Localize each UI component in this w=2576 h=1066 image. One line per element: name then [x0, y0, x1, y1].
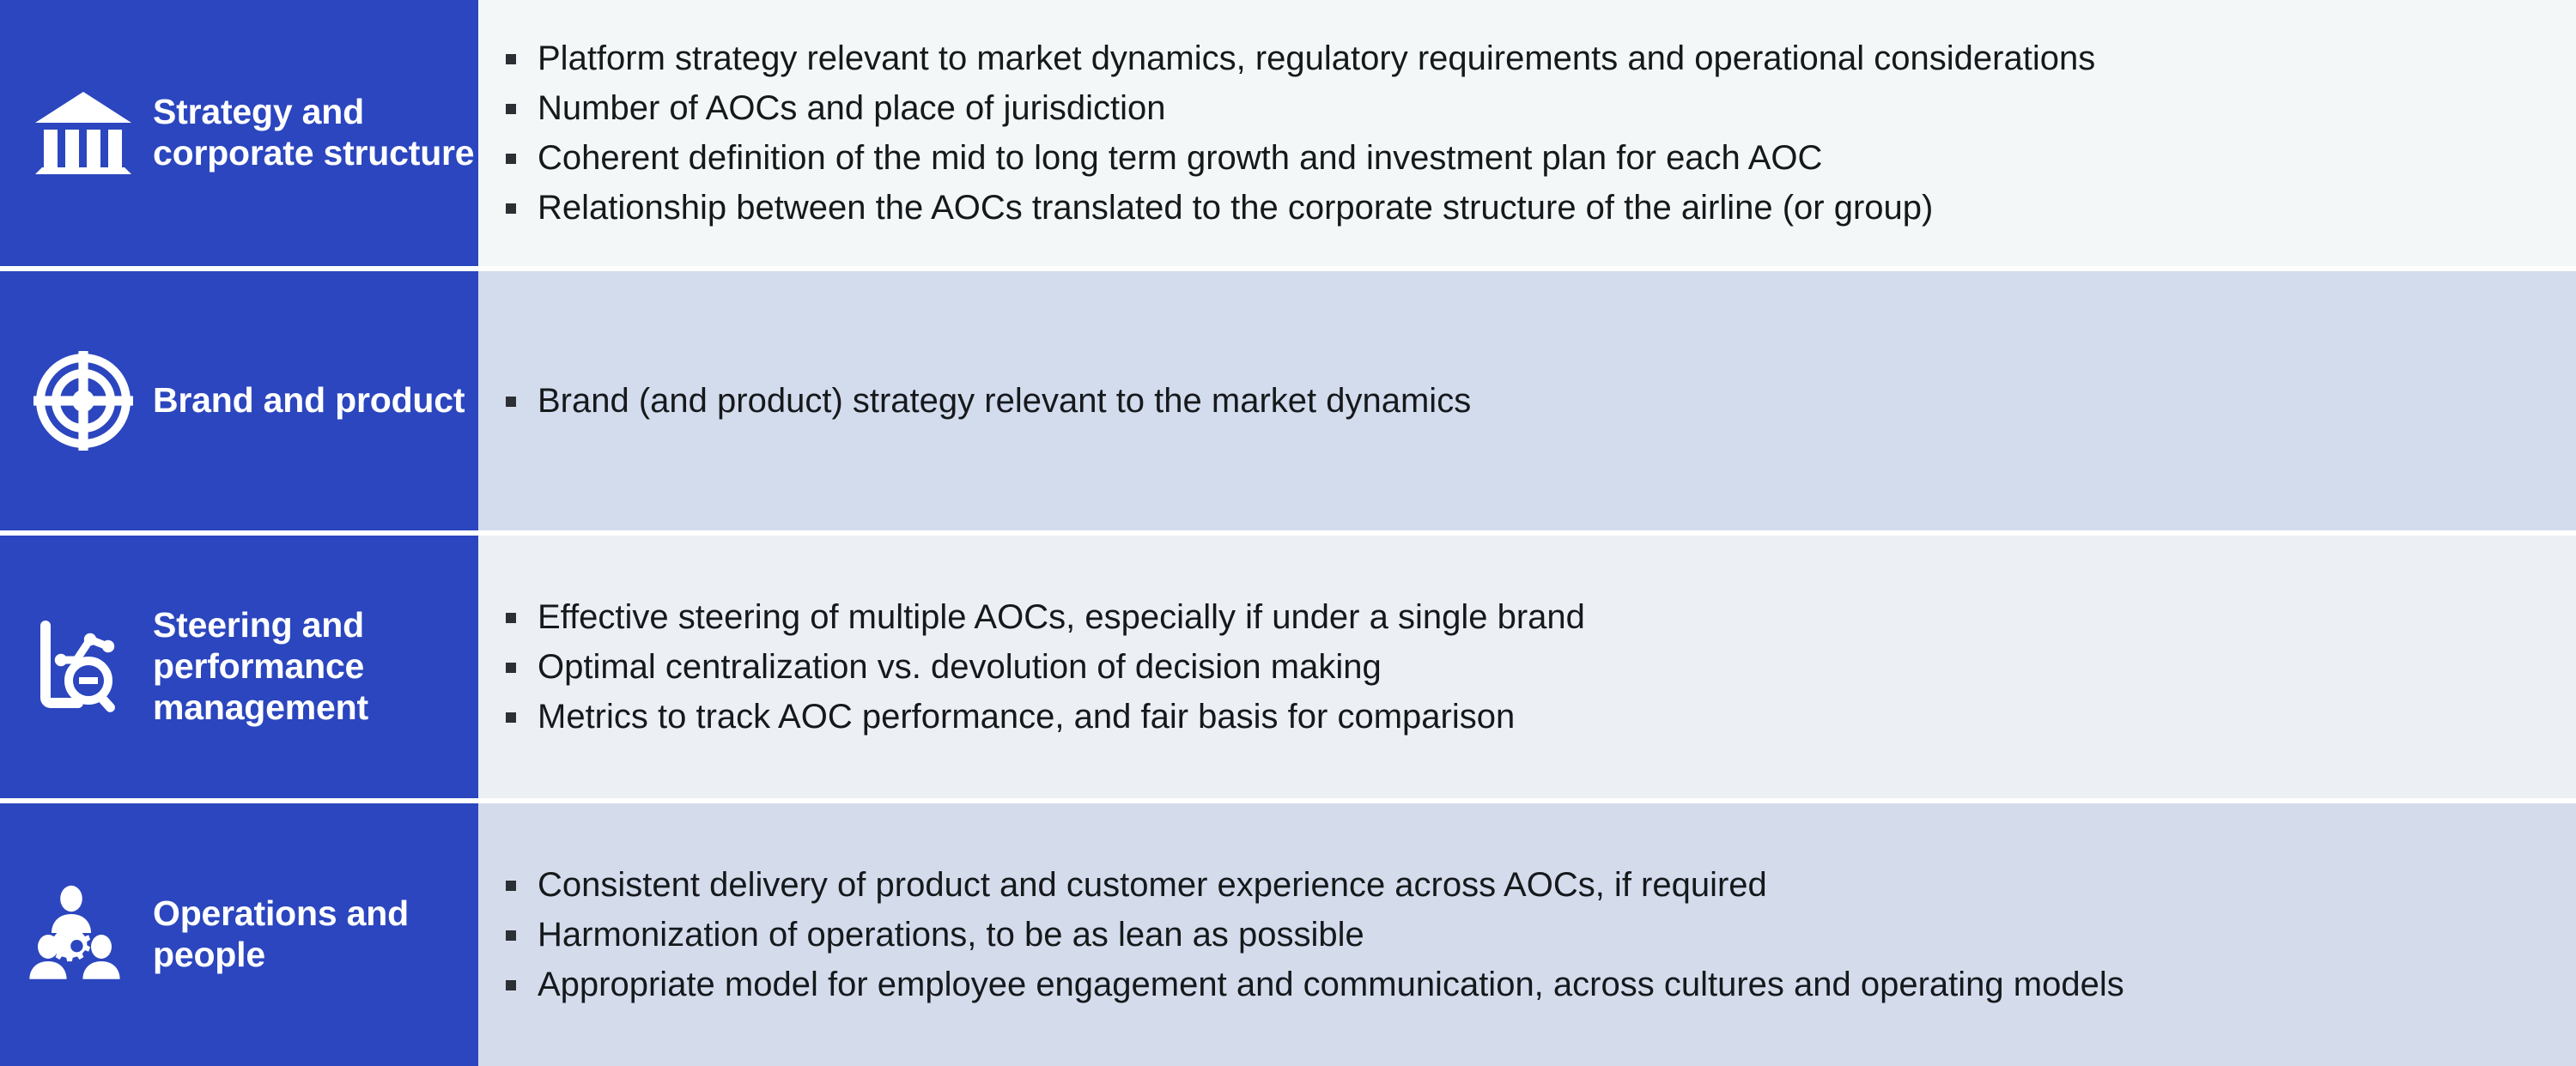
- list-item-text: Optimal centralization vs. devolution of…: [538, 650, 2559, 684]
- bullet-list: Platform strategy relevant to market dyn…: [506, 33, 2559, 233]
- list-item: Relationship between the AOCs translated…: [506, 183, 2559, 233]
- list-item: Brand (and product) strategy relevant to…: [506, 376, 2559, 426]
- row-body-strategy: Platform strategy relevant to market dyn…: [478, 0, 2576, 266]
- capability-matrix: Strategy and corporate structure Platfor…: [0, 0, 2576, 1066]
- chart-magnifier-icon: [19, 603, 148, 731]
- list-item: Metrics to track AOC performance, and fa…: [506, 692, 2559, 742]
- list-item-text: Relationship between the AOCs translated…: [538, 191, 2559, 225]
- square-bullet-icon: [506, 191, 538, 214]
- list-item: Appropriate model for employee engagemen…: [506, 960, 2559, 1009]
- row-label-strategy: Strategy and corporate structure: [0, 0, 478, 266]
- row-body-operations: Consistent delivery of product and custo…: [478, 803, 2576, 1066]
- square-bullet-icon: [506, 41, 538, 64]
- list-item-text: Effective steering of multiple AOCs, esp…: [538, 600, 2559, 634]
- list-item: Number of AOCs and place of jurisdiction: [506, 83, 2559, 133]
- row-title-label: Operations and people: [148, 893, 478, 976]
- list-item-text: Brand (and product) strategy relevant to…: [538, 384, 2559, 418]
- matrix-row-strategy-and-corporate-structure: Strategy and corporate structure Platfor…: [0, 0, 2576, 266]
- list-item: Optimal centralization vs. devolution of…: [506, 642, 2559, 692]
- bullet-list: Brand (and product) strategy relevant to…: [506, 376, 2559, 426]
- bank-columns-icon: [19, 69, 148, 197]
- square-bullet-icon: [506, 384, 538, 407]
- target-crosshair-icon: [19, 336, 148, 465]
- list-item-text: Coherent definition of the mid to long t…: [538, 141, 2559, 175]
- matrix-row-operations-and-people: Operations and people Consistent deliver…: [0, 803, 2576, 1066]
- square-bullet-icon: [506, 91, 538, 114]
- row-label-brand: Brand and product: [0, 271, 478, 530]
- bullet-list: Consistent delivery of product and custo…: [506, 860, 2559, 1009]
- matrix-row-steering-and-performance-management: Steering and performance management Effe…: [0, 536, 2576, 798]
- square-bullet-icon: [506, 918, 538, 941]
- square-bullet-icon: [506, 600, 538, 623]
- row-title-label: Strategy and corporate structure: [148, 92, 478, 174]
- square-bullet-icon: [506, 650, 538, 673]
- matrix-row-brand-and-product: Brand and product Brand (and product) st…: [0, 271, 2576, 530]
- row-label-steering: Steering and performance management: [0, 536, 478, 798]
- list-item: Coherent definition of the mid to long t…: [506, 133, 2559, 183]
- list-item-text: Metrics to track AOC performance, and fa…: [538, 700, 2559, 734]
- list-item: Platform strategy relevant to market dyn…: [506, 33, 2559, 83]
- list-item-text: Platform strategy relevant to market dyn…: [538, 41, 2559, 76]
- square-bullet-icon: [506, 967, 538, 990]
- list-item: Harmonization of operations, to be as le…: [506, 910, 2559, 960]
- list-item-text: Number of AOCs and place of jurisdiction: [538, 91, 2559, 125]
- list-item: Effective steering of multiple AOCs, esp…: [506, 592, 2559, 642]
- list-item-text: Appropriate model for employee engagemen…: [538, 967, 2559, 1002]
- row-title-label: Brand and product: [148, 380, 465, 421]
- row-title-label: Steering and performance management: [148, 605, 478, 729]
- square-bullet-icon: [506, 868, 538, 891]
- bullet-list: Effective steering of multiple AOCs, esp…: [506, 592, 2559, 742]
- row-body-steering: Effective steering of multiple AOCs, esp…: [478, 536, 2576, 798]
- list-item: Consistent delivery of product and custo…: [506, 860, 2559, 910]
- row-label-operations: Operations and people: [0, 803, 478, 1066]
- list-item-text: Consistent delivery of product and custo…: [538, 868, 2559, 902]
- square-bullet-icon: [506, 700, 538, 723]
- people-gear-icon: [19, 870, 148, 999]
- list-item-text: Harmonization of operations, to be as le…: [538, 918, 2559, 952]
- row-body-brand: Brand (and product) strategy relevant to…: [478, 271, 2576, 530]
- square-bullet-icon: [506, 141, 538, 164]
